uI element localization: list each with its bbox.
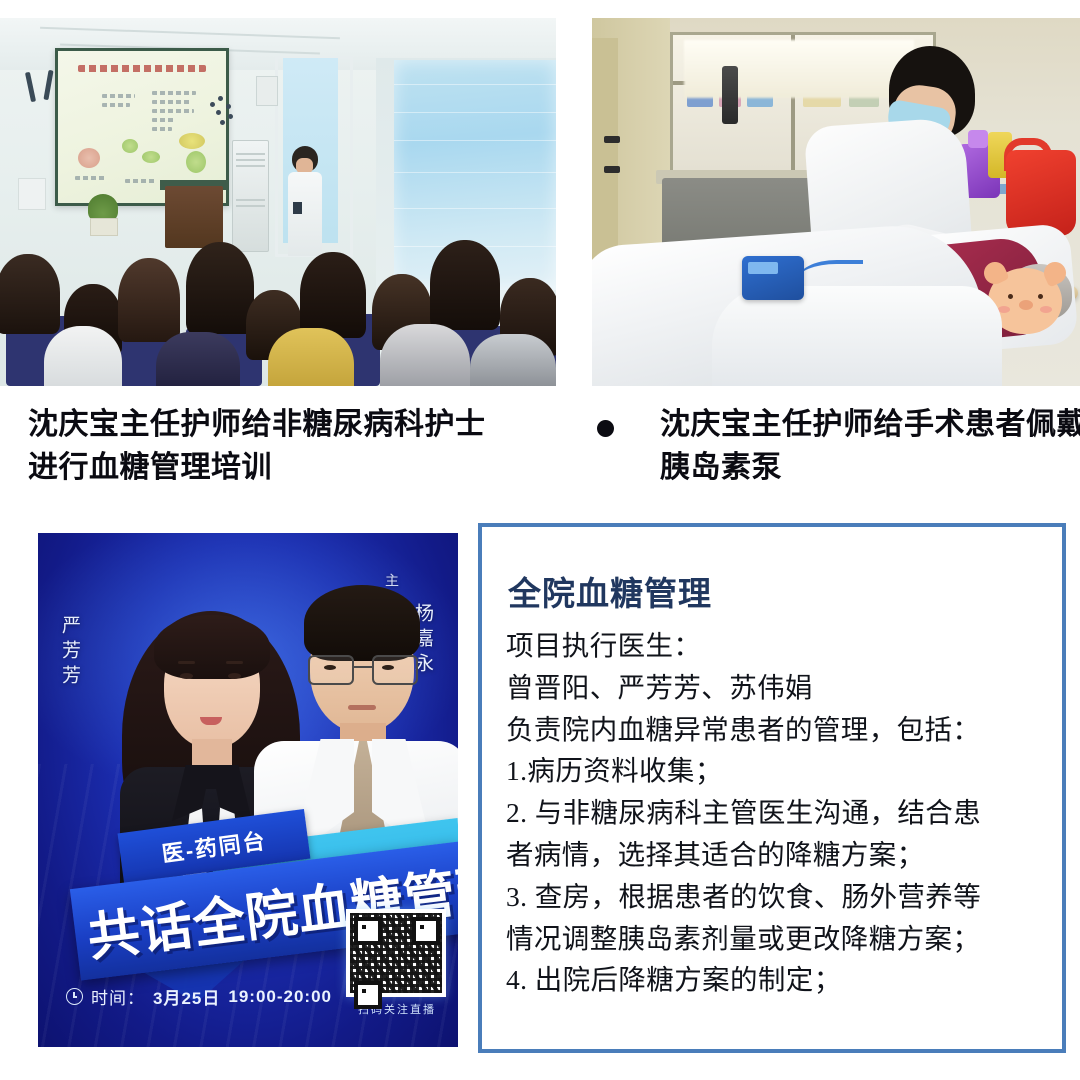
poster-guest-name: 严芳芳 — [56, 615, 83, 690]
qr-code[interactable] — [346, 909, 446, 997]
wall-decoration — [28, 70, 58, 108]
clock-icon — [66, 988, 83, 1005]
caption-left-line1: 沈庆宝主任护师给非糖尿病科护士 — [28, 404, 548, 447]
caption-right: 沈庆宝主任护师给手术患者佩戴 胰岛素泵 — [660, 404, 1080, 489]
insulin-pump-device — [742, 256, 804, 300]
poster-time-range: 19:00-20:00 — [228, 987, 332, 1007]
textbox-heading: 全院血糖管理 — [508, 567, 712, 615]
poster-schedule: 时间： 3月25日 19:00-20:00 — [66, 984, 332, 1009]
slide-page: 沈庆宝主任护师给非糖尿病科护士 进行血糖管理培训 沈庆宝主任护师给手术患者佩戴 … — [0, 0, 1080, 1080]
textbox-body: 项目执行医生： 曾晋阳、严芳芳、苏伟娟 负责院内血糖异常患者的管理，包括： 1.… — [506, 625, 1046, 1001]
hospital-ward-scene — [592, 18, 1080, 386]
wall-poster — [256, 76, 278, 106]
door-handle — [604, 166, 620, 173]
caption-left: 沈庆宝主任护师给非糖尿病科护士 进行血糖管理培训 — [28, 404, 548, 489]
livestream-promo-poster: 严芳芳 主持人 杨嘉永 — [38, 533, 458, 1047]
side-board — [18, 178, 46, 210]
textbox-line: 情况调整胰岛素剂量或更改降糖方案； — [506, 918, 1046, 960]
potted-plant — [86, 194, 120, 236]
caption-right-line1: 沈庆宝主任护师给手术患者佩戴 — [660, 404, 1080, 447]
poster-time-date: 3月25日 — [153, 984, 220, 1009]
duvet-fold — [712, 286, 1002, 386]
door-handle — [604, 136, 620, 143]
slide-title-line — [78, 65, 206, 72]
bullet-point-icon — [597, 420, 614, 437]
classroom-scene — [0, 18, 556, 386]
program-description-textbox: 全院血糖管理 项目执行医生： 曾晋阳、严芳芳、苏伟娟 负责院内血糖异常患者的管理… — [478, 523, 1066, 1053]
poster-subtitle-text: 医-药同台 — [160, 823, 269, 868]
wall-dots-decoration — [210, 96, 238, 126]
textbox-line: 3. 查房，根据患者的饮食、肠外营养等 — [506, 876, 1046, 918]
bedside-insulin-pump-photo — [592, 18, 1080, 386]
textbox-line: 4. 出院后降糖方案的制定； — [506, 959, 1046, 1001]
classroom-training-photo — [0, 18, 556, 386]
textbox-line: 2. 与非糖尿病科主管医生沟通，结合患 — [506, 792, 1046, 834]
textbox-line: 者病情，选择其适合的降糖方案； — [506, 834, 1046, 876]
textbox-line: 项目执行医生： — [506, 625, 1046, 667]
caption-left-line2: 进行血糖管理培训 — [28, 447, 548, 490]
hospital-bed — [592, 206, 1080, 386]
audience-group — [0, 236, 556, 386]
thermos-bottle — [722, 66, 738, 124]
poster-time-label: 时间： — [91, 984, 145, 1009]
caption-right-line2: 胰岛素泵 — [660, 447, 1080, 490]
textbox-line: 曾晋阳、严芳芳、苏伟娟 — [506, 667, 1046, 709]
poster-qr-block: 扫码关注直播 — [346, 909, 448, 1017]
textbox-line: 1.病历资料收集； — [506, 750, 1046, 792]
textbox-line: 负责院内血糖异常患者的管理，包括： — [506, 709, 1046, 751]
